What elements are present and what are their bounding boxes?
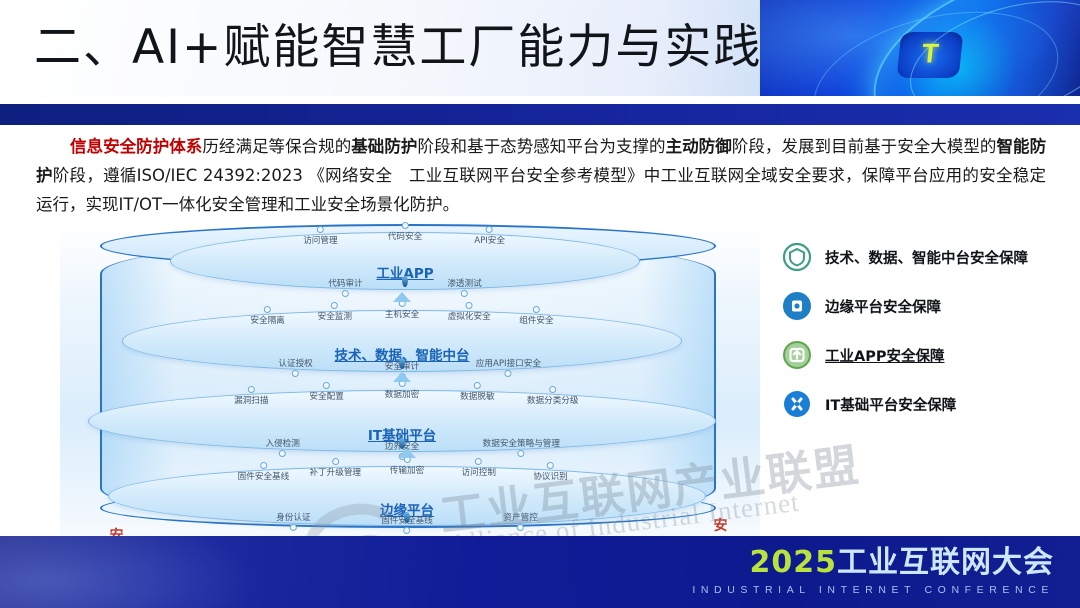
diagram-layer-midplatform[interactable]: 技术、数据、智能中台安全隔离安全监测主机安全虚拟化安全组件安全认证授权安全审计应… (122, 310, 682, 372)
node-dot (533, 306, 540, 313)
node-dot (403, 527, 410, 534)
node-label: 认证授权 (278, 359, 312, 369)
node-dot (547, 462, 554, 469)
node-label: 虚拟化安全 (448, 312, 491, 322)
diagram-layer-itbase[interactable]: IT基础平台漏洞扫描安全配置数据加密数据脱敏数据分类分级入侵检测边界安全数据安全… (88, 390, 716, 452)
layer-node[interactable]: 数据脱敏 (460, 382, 494, 402)
node-dot (260, 462, 267, 469)
diagram-layer-app[interactable]: 工业APP访问管理代码安全API安全代码审计渗透测试 (170, 232, 640, 290)
node-dot (401, 222, 408, 229)
node-dot (475, 458, 482, 465)
layer-flow-arrow-icon (398, 448, 416, 458)
layer-node[interactable]: 组件安全 (519, 306, 553, 326)
connector-pin (399, 358, 405, 369)
layer-node[interactable]: 协议识别 (533, 462, 567, 482)
layer-node[interactable]: 安全配置 (309, 382, 343, 402)
node-label: 资产管控 (503, 513, 537, 523)
header-tech-graphic: T (760, 0, 1080, 96)
layer-node[interactable]: 传输加密 (390, 456, 424, 476)
node-label: 主机安全 (385, 310, 419, 320)
layer-node[interactable]: 代码审计 (328, 277, 362, 297)
node-dot (279, 450, 286, 457)
layer-connector (397, 358, 407, 372)
layer-node[interactable]: 身份认证 (276, 511, 310, 531)
paragraph-keyword-active: 主动防御 (666, 137, 732, 156)
node-dot (517, 524, 524, 531)
layer-flow-arrow-icon (393, 372, 411, 382)
layer-flow-arrow-icon (393, 292, 411, 302)
layer-node[interactable]: API安全 (474, 226, 505, 246)
layer-node[interactable]: 固件安全基线 (238, 462, 290, 482)
node-label: 补丁升级管理 (309, 468, 361, 478)
node-label: 传输加密 (390, 466, 424, 476)
node-dot (342, 290, 349, 297)
header-t-logo: T (896, 32, 963, 78)
node-label: API安全 (474, 236, 505, 246)
header-divider-bar (0, 104, 1080, 125)
app-upload-icon (782, 340, 812, 370)
it-wrench-icon (782, 389, 812, 419)
layer-node[interactable]: 入侵检测 (265, 437, 299, 457)
node-label: 安全监测 (318, 312, 352, 322)
node-dot (332, 458, 339, 465)
header-ring-decoration (800, 0, 1073, 96)
node-dot (549, 386, 556, 393)
node-label: 协议识别 (533, 472, 567, 482)
node-label: 固件安全基线 (238, 472, 290, 482)
node-dot (317, 226, 324, 233)
layer-node[interactable]: 渗透测试 (447, 277, 481, 297)
paragraph-text-1: 历经满足等保合规的 (202, 137, 351, 156)
paragraph-text-3: 阶段，发展到目前基于安全大模型的 (732, 137, 997, 156)
paragraph-keyword-basic: 基础防护 (351, 137, 417, 156)
page-title: 二、AI+赋能智慧工厂能力与实践 (34, 16, 762, 80)
layer-node[interactable]: 数据安全策略与管理 (483, 437, 560, 457)
node-dot (518, 450, 525, 457)
edge-node-icon (782, 291, 812, 321)
conference-title-cn: 工业互联网大会 (837, 545, 1054, 580)
node-dot (474, 382, 481, 389)
node-dot (290, 524, 297, 531)
node-label: 数据脱敏 (460, 392, 494, 402)
body-paragraph: 信息安全防护体系历经满足等保合规的基础防护阶段和基于态势感知平台为支撑的主动防御… (36, 132, 1046, 219)
node-dot (292, 370, 299, 377)
cloud-shield-icon (782, 242, 812, 272)
architecture-diagram: 安全管理体系 安全运营体系 工业APP访问管理代码安全API安全代码审计渗透测试… (60, 226, 760, 536)
node-label: 代码安全 (388, 232, 422, 242)
paragraph-text-4: 阶段，遵循ISO/IEC 24392:2023 《网络安全 工业互联网平台安全参… (36, 166, 1046, 214)
node-dot (331, 302, 338, 309)
legend-item-label: IT基础平台安全保障 (825, 394, 956, 415)
layer-node[interactable]: 数据分类分级 (527, 386, 579, 406)
node-dot (486, 226, 493, 233)
conference-logo-main: 2025工业互联网大会 (692, 548, 1054, 578)
node-label: 安全隔离 (250, 316, 284, 326)
layer-node[interactable]: 访问管理 (303, 226, 337, 246)
layer-node[interactable]: 虚拟化安全 (448, 302, 491, 322)
node-label: 渗透测试 (447, 279, 481, 289)
node-label: 漏洞扫描 (234, 396, 268, 406)
conference-logo: 2025工业互联网大会 INDUSTRIAL INTERNET CONFEREN… (692, 548, 1054, 596)
node-dot (466, 302, 473, 309)
legend-item-label: 技术、数据、智能中台安全保障 (825, 247, 1028, 268)
paragraph-text-2: 阶段和基于态势感知平台为支撑的 (417, 137, 665, 156)
slide-footer: 2025工业互联网大会 INDUSTRIAL INTERNET CONFEREN… (0, 536, 1080, 608)
connector-pin (404, 512, 410, 523)
layer-node[interactable]: 资产管控 (503, 511, 537, 531)
node-label: 安全配置 (309, 392, 343, 402)
node-label: 应用API接口安全 (476, 359, 541, 369)
node-label: 访问控制 (462, 468, 496, 478)
node-dot (323, 382, 330, 389)
layer-node[interactable]: 认证授权 (278, 357, 312, 377)
node-dot (461, 290, 468, 297)
legend-item-1[interactable]: 技术、数据、智能中台安全保障 (782, 240, 1072, 274)
node-dot (248, 386, 255, 393)
conference-title-en: INDUSTRIAL INTERNET CONFERENCE (692, 585, 1054, 596)
layer-node[interactable]: 代码安全 (388, 222, 422, 242)
node-dot (264, 306, 271, 313)
conference-year: 2025 (750, 545, 838, 580)
connector-pin (402, 276, 408, 287)
node-label: 入侵检测 (265, 439, 299, 449)
legend-item-label: 边缘平台安全保障 (825, 296, 941, 317)
paragraph-keyword-system: 信息安全防护体系 (70, 137, 202, 156)
legend-item-4[interactable]: IT基础平台安全保障 (782, 387, 1072, 421)
layer-node[interactable]: 安全隔离 (250, 306, 284, 326)
node-label: 访问管理 (303, 236, 337, 246)
layer-node[interactable]: 主机安全 (385, 300, 419, 320)
node-label: 数据安全策略与管理 (483, 439, 560, 449)
legend-item-label: 工业APP安全保障 (825, 345, 944, 366)
legend-item-3[interactable]: 工业APP安全保障 (782, 338, 1072, 372)
layer-connector (400, 276, 410, 290)
layer-node[interactable]: 数据加密 (385, 380, 419, 400)
layer-connector (402, 512, 412, 526)
diagram-layer-edge[interactable]: 边缘平台固件安全基线补丁升级管理传输加密访问控制协议识别身份认证固件安全基线资产… (108, 466, 706, 526)
layer-node[interactable]: 应用API接口安全 (476, 357, 541, 377)
node-label: 代码审计 (328, 279, 362, 289)
node-label: 组件安全 (519, 316, 553, 326)
header-t-logo-letter: T (920, 39, 940, 70)
slide-header: T 二、AI+赋能智慧工厂能力与实践 (0, 0, 1080, 96)
node-label: 数据分类分级 (527, 396, 579, 406)
node-dot (505, 370, 512, 377)
layer-node[interactable]: 漏洞扫描 (234, 386, 268, 406)
legend-item-2[interactable]: 边缘平台安全保障 (782, 289, 1072, 323)
layer-node[interactable]: 安全监测 (318, 302, 352, 322)
layer-node[interactable]: 访问控制 (462, 458, 496, 478)
node-label: 数据加密 (385, 390, 419, 400)
layer-node[interactable]: 补丁升级管理 (309, 458, 361, 478)
node-label: 身份认证 (276, 513, 310, 523)
